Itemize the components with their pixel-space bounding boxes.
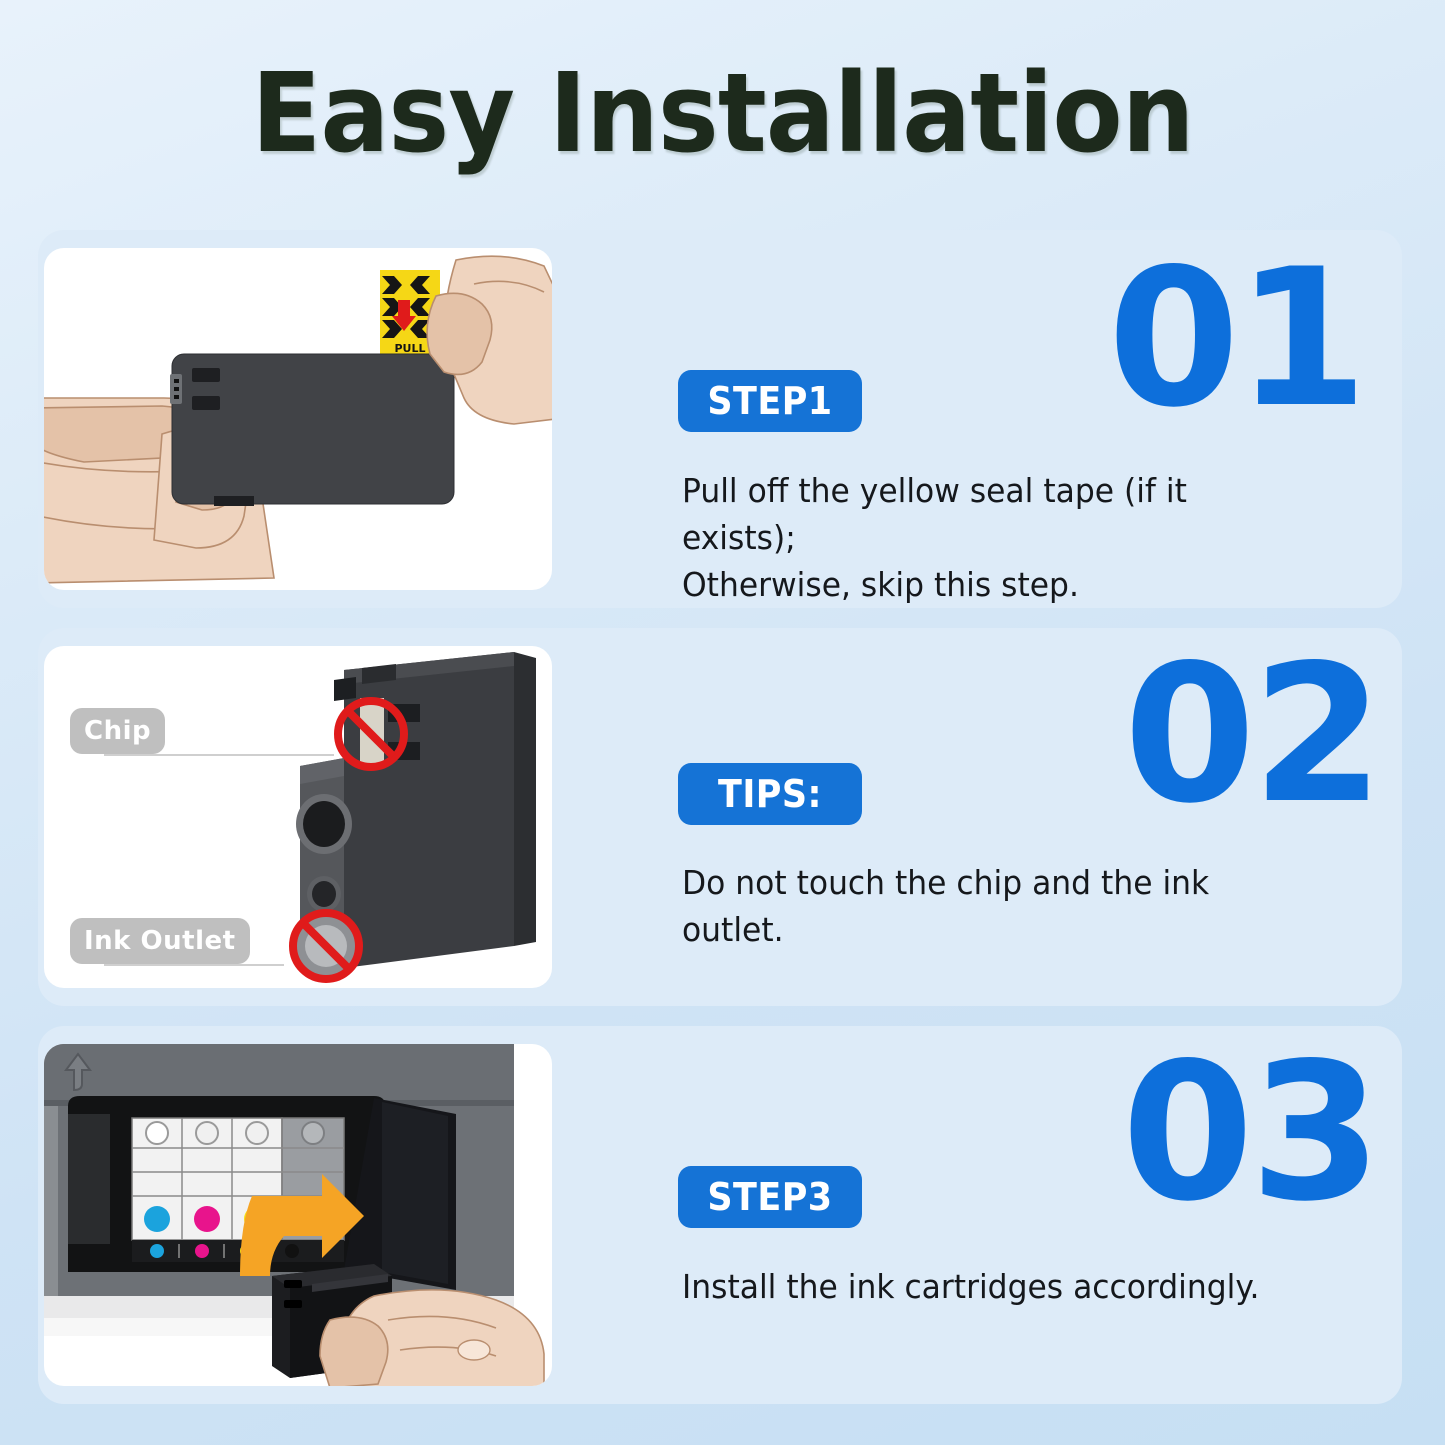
step-1-number: 01 [1108,244,1364,434]
step-row-1: PULL STEP1 Pull off the [38,230,1402,608]
step-row-3: STEP3 Install the ink cartridges accordi… [38,1026,1402,1404]
step-3-description: Install the ink cartridges accordingly. [682,1264,1290,1311]
hand-holding-cartridge-illustration: PULL [44,248,552,590]
step-1-description-line-2: Otherwise, skip this step. [682,562,1290,609]
step-1-description-line-1: Pull off the yellow seal tape (if it exi… [682,468,1290,562]
step-3-description-line-1: Install the ink cartridges accordingly. [682,1264,1290,1311]
step-2-number: 02 [1124,640,1380,830]
step-2-description: Do not touch the chip and the ink outlet… [682,860,1290,954]
step-2-description-line-1: Do not touch the chip and the ink outlet… [682,860,1290,954]
step-3-badge: STEP3 [678,1166,862,1228]
ink-outlet-leader-line [104,964,284,966]
step-1-badge: STEP1 [678,370,862,432]
step-2-illustration-card: Chip Ink Outlet [44,646,552,988]
page-title: Easy Installation [51,58,1395,168]
slot-color-cyan [144,1206,170,1232]
chip-leader-line [104,754,334,756]
svg-text:PULL: PULL [394,342,425,355]
ink-outlet-label: Ink Outlet [70,918,250,964]
printer-install-illustration [44,1044,552,1386]
step-3-illustration-card [44,1044,552,1386]
step-1-illustration-card: PULL [44,248,552,590]
step-1-description: Pull off the yellow seal tape (if it exi… [682,468,1290,609]
infographic-page: Easy Installation [0,0,1445,1445]
chip-label: Chip [70,708,165,754]
step-3-number: 03 [1122,1038,1378,1228]
step-2-badge: TIPS: [678,763,862,825]
slot-color-magenta [194,1206,220,1232]
step-row-2: Chip Ink Outlet TIPS: Do not touch the c… [38,628,1402,1006]
